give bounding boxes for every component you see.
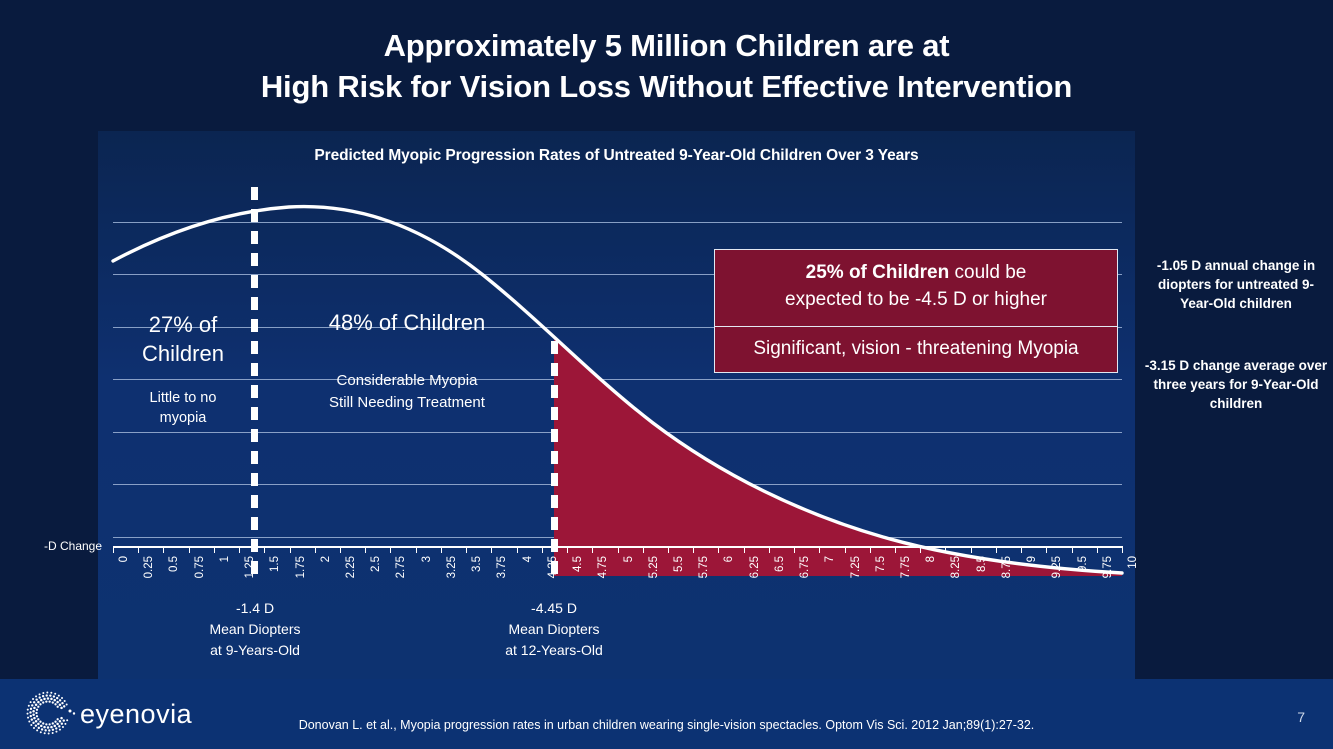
x-axis-tick — [390, 546, 391, 553]
little-line2: myopia — [113, 408, 253, 428]
segment-27-percent: 27% of Children — [113, 310, 253, 368]
annotation-three-year-change: -3.15 D change average over three years … — [1143, 356, 1329, 413]
marker1-line2: Mean Diopters — [185, 619, 325, 640]
x-axis-tick-label: 5 — [623, 556, 635, 562]
x-axis-tick — [920, 546, 921, 553]
callout-top: 25% of Children could be expected to be … — [715, 250, 1117, 327]
slide: Approximately 5 Million Children are at … — [0, 0, 1333, 749]
x-axis-tick-label: 7.25 — [850, 556, 862, 578]
x-axis-tick-label: 0.25 — [143, 556, 155, 578]
x-axis-tick — [945, 546, 946, 553]
citation: Donovan L. et al., Myopia progression ra… — [0, 718, 1333, 732]
marker1-line3: at 9-Years-Old — [185, 640, 325, 661]
segment-48-percent: 48% of Children — [262, 310, 552, 336]
marker2-line3: at 12-Years-Old — [484, 640, 624, 661]
x-axis-tick — [264, 546, 265, 553]
x-axis-tick — [1097, 546, 1098, 553]
callout-line2: expected to be -4.5 D or higher — [785, 289, 1047, 310]
marker2-line2: Mean Diopters — [484, 619, 624, 640]
segment-27-line2: Children — [113, 339, 253, 368]
x-axis-tick — [1021, 546, 1022, 553]
x-axis-tick-label: 5.75 — [698, 556, 710, 578]
considerable-line1: Considerable Myopia — [262, 370, 552, 392]
x-axis-tick — [138, 546, 139, 553]
axis-caption: -D Change — [44, 539, 102, 553]
x-axis-tick-label: 3.25 — [446, 556, 458, 578]
x-axis-tick — [290, 546, 291, 553]
x-axis-tick — [214, 546, 215, 553]
marker-label-9-years-old: -1.4 D Mean Diopters at 9-Years-Old — [185, 598, 325, 661]
marker-label-12-years-old: -4.45 D Mean Diopters at 12-Years-Old — [484, 598, 624, 661]
x-axis-tick-label: 7.5 — [875, 556, 887, 572]
x-axis-tick — [618, 546, 619, 553]
x-axis-tick — [1122, 546, 1123, 553]
x-axis-tick-label: 9 — [1026, 556, 1038, 562]
x-axis-tick — [365, 546, 366, 553]
x-axis-tick — [819, 546, 820, 553]
x-axis-tick-label: 1.5 — [269, 556, 281, 572]
x-axis-tick — [769, 546, 770, 553]
x-axis-tick-label: 0.5 — [168, 556, 180, 572]
x-axis-tick — [441, 546, 442, 553]
title-line-1: Approximately 5 Million Children are at — [0, 26, 1333, 67]
x-axis-tick — [189, 546, 190, 553]
marker-line-9-years-old — [251, 187, 258, 576]
x-axis-tick-label: 5.25 — [648, 556, 660, 578]
considerable-line2: Still Needing Treatment — [262, 392, 552, 414]
x-axis-tick — [517, 546, 518, 553]
x-axis-tick — [744, 546, 745, 553]
x-axis-tick-label: 3 — [421, 556, 433, 562]
x-axis-tick-label: 4.75 — [597, 556, 609, 578]
x-axis-tick — [693, 546, 694, 553]
x-axis-tick-label: 9.5 — [1077, 556, 1089, 572]
x-axis-tick-label: 5.5 — [673, 556, 685, 572]
marker2-line1: -4.45 D — [484, 598, 624, 619]
callout-bold: 25% of Children — [806, 262, 950, 283]
x-axis-tick — [870, 546, 871, 553]
x-axis-tick-label: 7.75 — [900, 556, 912, 578]
x-axis-tick-label: 2 — [320, 556, 332, 562]
x-axis-tick — [163, 546, 164, 553]
x-axis-tick — [315, 546, 316, 553]
x-axis-tick-label: 8.25 — [950, 556, 962, 578]
x-axis-tick-label: 8 — [925, 556, 937, 562]
segment-considerable-myopia: Considerable Myopia Still Needing Treatm… — [262, 370, 552, 414]
x-axis-tick — [340, 546, 341, 553]
x-axis-tick-label: 0 — [118, 556, 130, 562]
x-axis-tick — [239, 546, 240, 553]
x-axis-tick — [1072, 546, 1073, 553]
x-axis-tick — [1046, 546, 1047, 553]
segment-little-myopia: Little to no myopia — [113, 388, 253, 428]
x-axis-ticks: 00.250.50.7511.251.51.7522.252.52.7533.2… — [113, 546, 1122, 606]
callout-box: 25% of Children could be expected to be … — [714, 249, 1118, 373]
x-axis-tick — [592, 546, 593, 553]
x-axis-tick-label: 3.5 — [471, 556, 483, 572]
x-axis-tick-label: 1 — [219, 556, 231, 562]
x-axis-tick — [466, 546, 467, 553]
x-axis-tick — [996, 546, 997, 553]
x-axis-tick — [845, 546, 846, 553]
x-axis-tick — [794, 546, 795, 553]
x-axis-tick-label: 1.75 — [295, 556, 307, 578]
x-axis-tick — [567, 546, 568, 553]
x-axis-tick-label: 3.75 — [496, 556, 508, 578]
x-axis-tick-label: 6.75 — [799, 556, 811, 578]
x-axis-tick — [971, 546, 972, 553]
x-axis-tick-label: 2.5 — [370, 556, 382, 572]
x-axis-tick-label: 6 — [723, 556, 735, 562]
x-axis-tick-label: 9.75 — [1102, 556, 1114, 578]
x-axis-tick — [643, 546, 644, 553]
marker1-line1: -1.4 D — [185, 598, 325, 619]
x-axis-tick-label: 9.25 — [1051, 556, 1063, 578]
page-title: Approximately 5 Million Children are at … — [0, 26, 1333, 108]
title-line-2: High Risk for Vision Loss Without Effect… — [0, 67, 1333, 108]
x-axis-tick — [491, 546, 492, 553]
x-axis-tick — [668, 546, 669, 553]
marker-line-12-years-old — [551, 341, 558, 576]
x-axis-tick-label: 2.75 — [395, 556, 407, 578]
x-axis-tick-label: 1.25 — [244, 556, 256, 578]
little-line1: Little to no — [113, 388, 253, 408]
x-axis-tick-label: 4.5 — [572, 556, 584, 572]
x-axis-tick-label: 2.25 — [345, 556, 357, 578]
callout-bottom: Significant, vision - threatening Myopia — [715, 327, 1117, 372]
x-axis-tick-label: 4 — [522, 556, 534, 562]
x-axis-tick-label: 10 — [1127, 556, 1139, 569]
callout-rest: could be — [949, 262, 1026, 283]
x-axis-tick-label: 0.75 — [194, 556, 206, 578]
x-axis-tick-label: 8.5 — [976, 556, 988, 572]
x-axis-tick-label: 4.25 — [547, 556, 559, 578]
chart-title: Predicted Myopic Progression Rates of Un… — [98, 147, 1135, 165]
x-axis-tick — [113, 546, 114, 553]
page-number: 7 — [1297, 709, 1305, 725]
annotation-annual-change: -1.05 D annual change in diopters for un… — [1143, 256, 1329, 313]
x-axis-tick-label: 7 — [824, 556, 836, 562]
segment-27-line1: 27% of — [113, 310, 253, 339]
x-axis-tick-label: 6.25 — [749, 556, 761, 578]
x-axis-tick-label: 6.5 — [774, 556, 786, 572]
x-axis-tick-label: 8.75 — [1001, 556, 1013, 578]
x-axis-tick — [416, 546, 417, 553]
x-axis-tick — [542, 546, 543, 553]
x-axis-tick — [718, 546, 719, 553]
x-axis-tick — [895, 546, 896, 553]
